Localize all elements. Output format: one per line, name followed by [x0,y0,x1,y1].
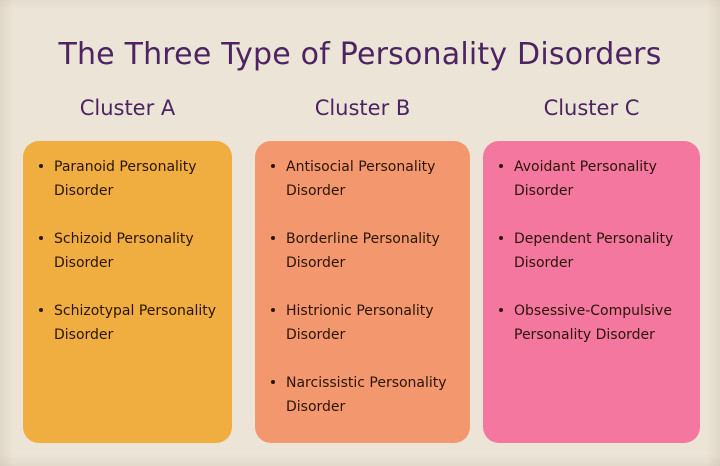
bullet-icon [271,308,275,312]
list-item: Dependent Personality Disorder [497,227,688,275]
bullet-icon [271,164,275,168]
bullet-icon [39,308,43,312]
list-item-label: Histrionic Personality Disorder [286,299,458,347]
list-item-label: Obsessive-Compulsive Personality Disorde… [514,299,688,347]
bullet-icon [271,236,275,240]
cluster-b-card: Antisocial Personality Disorder Borderli… [255,141,470,443]
list-item: Paranoid Personality Disorder [37,155,220,203]
personality-disorders-infographic: The Three Type of Personality Disorders … [0,0,720,466]
list-item-label: Dependent Personality Disorder [514,227,688,275]
list-item-label: Schizotypal Personality Disorder [54,299,220,347]
list-item: Avoidant Personality Disorder [497,155,688,203]
bullet-icon [499,164,503,168]
bullet-icon [499,236,503,240]
bullet-icon [499,308,503,312]
page-title: The Three Type of Personality Disorders [0,38,720,72]
cluster-c-list: Avoidant Personality Disorder Dependent … [497,155,688,347]
cluster-heading-b: Cluster B [255,96,470,121]
list-item: Borderline Personality Disorder [269,227,458,275]
list-item-label: Paranoid Personality Disorder [54,155,220,203]
cluster-heading-a: Cluster A [23,96,232,121]
list-item-label: Narcissistic Personality Disorder [286,371,458,419]
cluster-b-list: Antisocial Personality Disorder Borderli… [269,155,458,419]
cluster-heading-c: Cluster C [483,96,700,121]
list-item: Obsessive-Compulsive Personality Disorde… [497,299,688,347]
bullet-icon [271,380,275,384]
list-item: Histrionic Personality Disorder [269,299,458,347]
list-item: Schizoid Personality Disorder [37,227,220,275]
bullet-icon [39,236,43,240]
list-item-label: Avoidant Personality Disorder [514,155,688,203]
list-item: Antisocial Personality Disorder [269,155,458,203]
list-item: Narcissistic Personality Disorder [269,371,458,419]
list-item-label: Borderline Personality Disorder [286,227,458,275]
list-item-label: Antisocial Personality Disorder [286,155,458,203]
bullet-icon [39,164,43,168]
cluster-a-card: Paranoid Personality Disorder Schizoid P… [23,141,232,443]
cluster-c-card: Avoidant Personality Disorder Dependent … [483,141,700,443]
cluster-a-list: Paranoid Personality Disorder Schizoid P… [37,155,220,347]
list-item: Schizotypal Personality Disorder [37,299,220,347]
list-item-label: Schizoid Personality Disorder [54,227,220,275]
